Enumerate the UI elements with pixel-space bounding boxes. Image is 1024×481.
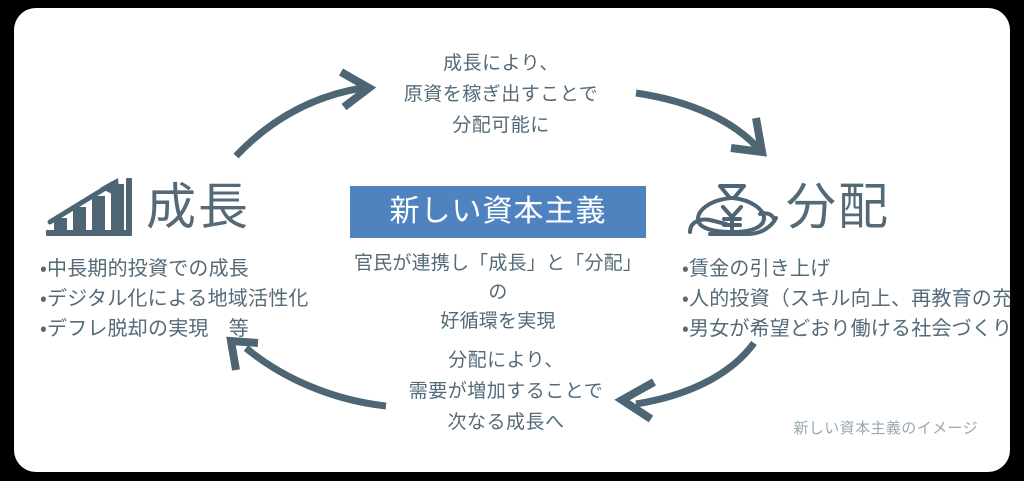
arrowhead-bottom-left [231, 341, 258, 370]
list-item: ・人的投資（スキル向上、再教育の充実） [682, 284, 1010, 314]
pillar-growth-bullets: ・中長期的投資での成長 ・デジタル化による地域活性化 ・デフレ脱却の実現 等 [40, 254, 350, 344]
pillar-growth-title: 成長 [146, 182, 250, 232]
hand-money-bag-yen-icon [686, 174, 778, 240]
arc-top-right [636, 93, 758, 148]
arc-bottom-right [636, 343, 754, 404]
list-item: ・デフレ脱却の実現 等 [40, 314, 350, 344]
list-item: ・デジタル化による地域活性化 [40, 284, 350, 314]
arrowhead-top-left [341, 72, 369, 107]
cycle-caption-bottom: 分配により、 需要が増加することで 次なる成長へ [386, 345, 626, 438]
pillar-growth-head: 成長 [40, 170, 350, 244]
bar-chart-growth-icon [40, 174, 136, 240]
center-concept-block: 新しい資本主義 官民が連携し「成長」と「分配」の 好循環を実現 [350, 186, 646, 336]
list-item: ・中長期的投資での成長 [40, 254, 350, 284]
center-subtitle: 官民が連携し「成長」と「分配」の 好循環を実現 [350, 249, 646, 336]
list-item: ・男女が希望どおり働ける社会づくり [682, 314, 1010, 344]
figure-root: 成長により、 原資を稼ぎ出すことで 分配可能に [0, 0, 1024, 481]
figure-caption: 新しい資本主義のイメージ [793, 417, 978, 438]
pillar-distribution: 分配 ・賃金の引き上げ ・人的投資（スキル向上、再教育の充実） ・男女が希望どお… [682, 170, 1010, 344]
pillar-growth: 成長 ・中長期的投資での成長 ・デジタル化による地域活性化 ・デフレ脱却の実現 … [40, 170, 350, 344]
pillar-distribution-title: 分配 [786, 182, 890, 232]
arc-top-left [236, 88, 362, 156]
figure-card: 成長により、 原資を稼ぎ出すことで 分配可能に [14, 8, 1010, 472]
cycle-caption-top: 成長により、 原資を稼ぎ出すことで 分配可能に [376, 48, 626, 141]
arrowhead-top-right [731, 118, 762, 152]
pillar-distribution-bullets: ・賃金の引き上げ ・人的投資（スキル向上、再教育の充実） ・男女が希望どおり働け… [682, 254, 1010, 344]
pillar-distribution-head: 分配 [682, 170, 1010, 244]
arc-bottom-left [246, 348, 386, 406]
list-item: ・賃金の引き上げ [682, 254, 1010, 284]
center-banner: 新しい資本主義 [350, 186, 646, 238]
arrowhead-bottom-right [622, 382, 654, 419]
center-banner-label: 新しい資本主義 [390, 197, 607, 227]
